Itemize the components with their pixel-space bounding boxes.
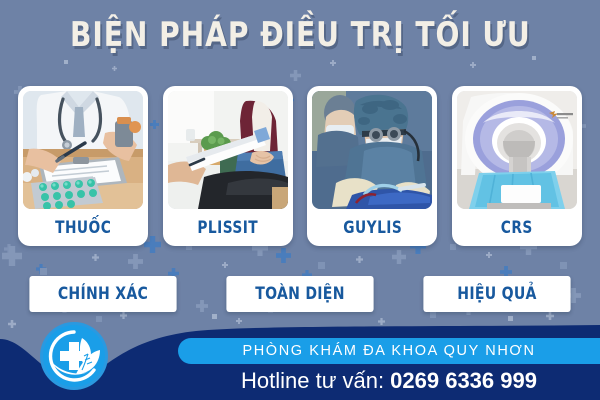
- mri-scanner-photo: [457, 91, 577, 209]
- hotline-number[interactable]: 0269 6336 999: [390, 368, 537, 394]
- page-title: BIỆN PHÁP ĐIỀU TRỊ TỐI ƯU: [70, 15, 531, 55]
- treatment-card-thuoc[interactable]: THUỐC: [18, 86, 148, 246]
- treatment-card-crs[interactable]: CRS: [452, 86, 582, 246]
- treatment-card-plissit[interactable]: PLISSIT: [163, 86, 293, 246]
- clinic-name-text: PHÒNG KHÁM ĐA KHOA QUY NHƠN: [242, 343, 535, 359]
- treatment-card-label: CRS: [501, 209, 533, 246]
- clinic-cross-leaf-logo: [38, 320, 110, 392]
- treatment-card-label: THUỐC: [55, 209, 111, 246]
- surgery-operation-photo: [312, 91, 432, 209]
- doctor-writing-prescription-photo: [23, 91, 143, 209]
- treatment-card-guylis[interactable]: GUYLIS: [307, 86, 437, 246]
- counseling-session-photo: [168, 91, 288, 209]
- treatment-card-label: PLISSIT: [197, 209, 258, 246]
- hotline-label: Hotline tư vấn:: [241, 368, 384, 394]
- treatment-cards-row: THUỐC: [18, 86, 582, 246]
- treatment-card-label: GUYLIS: [343, 209, 402, 246]
- page-title-container: BIỆN PHÁP ĐIỀU TRỊ TỐI ƯU: [0, 10, 600, 60]
- clinic-name-bar: PHÒNG KHÁM ĐA KHOA QUY NHƠN: [178, 338, 600, 364]
- hotline-row: Hotline tư vấn: 0269 6336 999: [178, 366, 600, 396]
